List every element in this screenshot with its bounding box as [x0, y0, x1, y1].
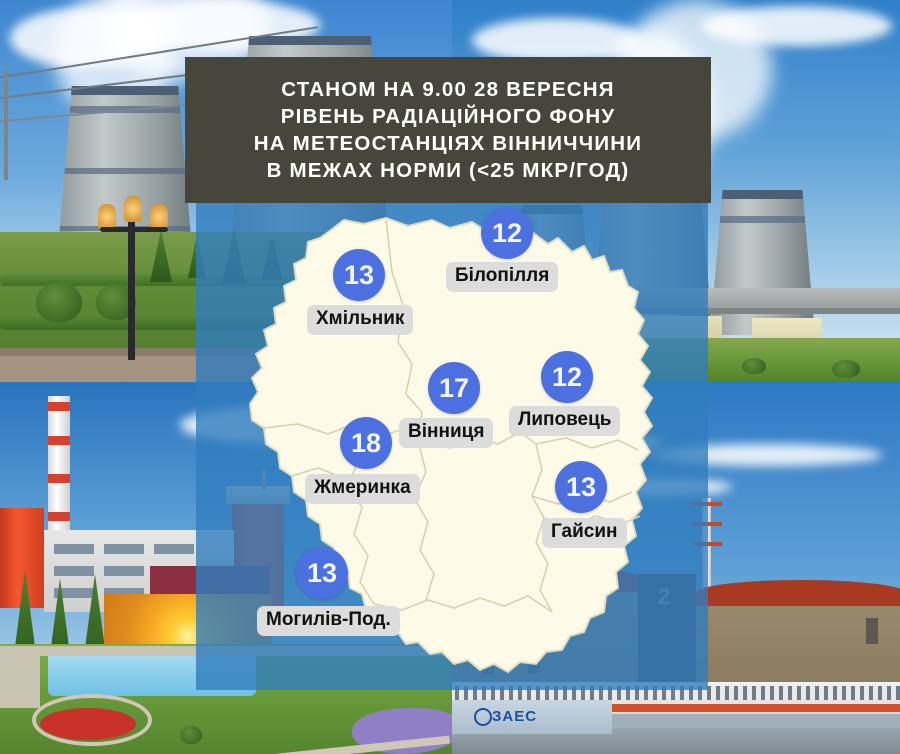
station-value: 18 [351, 428, 381, 459]
title-box: СТАНОМ НА 9.00 28 ВЕРЕСНЯ РІВЕНЬ РАДІАЦІ… [185, 57, 711, 203]
station-label-mohyliv-pod: Могилів-Под. [257, 606, 400, 636]
reactor-block-2 [696, 596, 900, 692]
station-marker-haisyn[interactable]: 13 [555, 461, 607, 513]
zaes-logo-icon [474, 708, 492, 726]
lamp-head [124, 196, 142, 222]
lamp-arm [100, 227, 168, 232]
reactor-dome [696, 580, 900, 606]
window [54, 566, 94, 576]
utility-pole [4, 70, 8, 180]
station-value: 13 [307, 558, 337, 589]
station-marker-hmilnyk[interactable]: 13 [333, 249, 385, 301]
station-value: 13 [566, 472, 596, 503]
station-marker-bilopillia[interactable]: 12 [481, 207, 533, 259]
zaes-sign-building: ЗАЕС [452, 700, 612, 734]
shrub [36, 282, 82, 322]
red-reactor-block [0, 508, 44, 608]
station-marker-mohyliv-pod[interactable]: 13 [296, 547, 348, 599]
station-value: 17 [439, 373, 469, 404]
stack-band [48, 402, 70, 411]
station-label-zhmerynka: Жмеринка [305, 474, 420, 504]
station-label-lypovets: Липовець [509, 406, 620, 436]
stack-band [48, 474, 70, 483]
station-value: 12 [552, 362, 582, 393]
flower-bed-ring [32, 694, 152, 746]
station-value: 13 [344, 260, 374, 291]
infographic-root: 2 ЗАЕС СТАНОМ НА 9.00 28 ВЕРЕСНЯ РІВЕНЬ … [0, 0, 900, 754]
tower-band [55, 168, 195, 174]
station-label-vinnytsia: Вінниця [399, 418, 493, 448]
title-line-4: В МЕЖАХ НОРМИ (<25 МКР/ГОД) [267, 157, 630, 184]
window [54, 544, 94, 554]
shrub [832, 360, 860, 378]
window [104, 566, 144, 576]
stack-band [48, 436, 70, 445]
tower-band [710, 216, 815, 223]
walkway [0, 648, 40, 708]
shrub [180, 726, 202, 744]
window [154, 544, 194, 554]
station-marker-zhmerynka[interactable]: 18 [340, 417, 392, 469]
title-line-1: СТАНОМ НА 9.00 28 ВЕРЕСНЯ [281, 76, 614, 103]
station-value: 12 [492, 218, 522, 249]
station-marker-vinnytsia[interactable]: 17 [428, 362, 480, 414]
stack-band [48, 512, 70, 521]
lamp-post [128, 210, 135, 360]
station-label-hmilnyk: Хмільник [307, 305, 413, 335]
facade-slot [866, 618, 878, 644]
zaes-sign-text: ЗАЕС [492, 708, 537, 725]
tower-rim [708, 190, 817, 199]
station-label-bilopillia: Білопілля [446, 262, 558, 292]
title-line-3: НА МЕТЕОСТАНЦІЯХ ВІННИЧЧИНИ [254, 130, 642, 157]
shrub [742, 358, 766, 374]
station-label-haisyn: Гайсин [542, 518, 627, 548]
station-marker-lypovets[interactable]: 12 [541, 351, 593, 403]
window [104, 544, 144, 554]
title-line-2: РІВЕНЬ РАДІАЦІЙНОГО ФОНУ [281, 103, 616, 130]
